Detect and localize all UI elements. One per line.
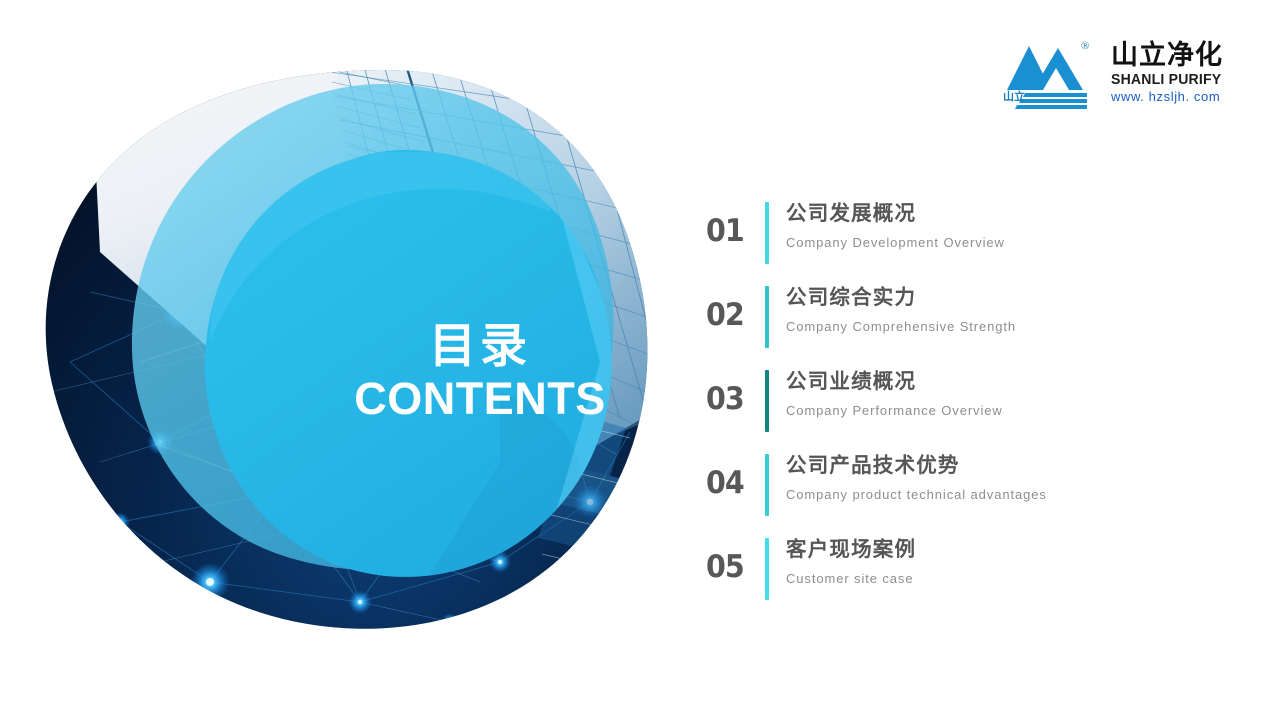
contents-item-02[interactable]: 02 公司综合实力 Company Comprehensive Strength [706, 280, 1246, 364]
contents-item-number: 03 [706, 382, 750, 416]
contents-item-text: 客户现场案例 Customer site case [786, 532, 916, 589]
logo-wordmark: 山立净化 SHANLI PURIFY www. hzsljh. com [1111, 40, 1236, 105]
contents-item-title-en: Customer site case [786, 569, 916, 589]
contents-item-text: 公司业绩概况 Company Performance Overview [786, 364, 1003, 421]
contents-item-title-cn: 公司发展概况 [786, 196, 1005, 230]
contents-item-title-cn: 公司业绩概况 [786, 364, 1003, 398]
contents-item-number: 01 [706, 214, 750, 248]
contents-item-03[interactable]: 03 公司业绩概况 Company Performance Overview [706, 364, 1246, 448]
logo-website-url[interactable]: www. hzsljh. com [1111, 89, 1236, 105]
contents-item-title-en: Company Development Overview [786, 233, 1005, 253]
contents-item-04[interactable]: 04 公司产品技术优势 Company product technical ad… [706, 448, 1246, 532]
slide-root: 目录 CONTENTS 01 公司发展概况 Company Developmen… [0, 0, 1280, 720]
contents-item-01[interactable]: 01 公司发展概况 Company Development Overview [706, 196, 1246, 280]
contents-item-divider [765, 538, 769, 600]
contents-item-number: 02 [706, 298, 750, 332]
contents-item-text: 公司综合实力 Company Comprehensive Strength [786, 280, 1016, 337]
contents-item-divider [765, 454, 769, 516]
contents-item-title-cn: 客户现场案例 [786, 532, 916, 566]
contents-item-divider [765, 202, 769, 264]
contents-list: 01 公司发展概况 Company Development Overview 0… [706, 196, 1246, 616]
contents-item-number: 04 [706, 466, 750, 500]
contents-item-title-cn: 公司综合实力 [786, 280, 1016, 314]
contents-hero-graphic: 目录 CONTENTS [30, 62, 660, 642]
contents-item-number: 05 [706, 550, 750, 584]
contents-item-05[interactable]: 05 客户现场案例 Customer site case [706, 532, 1246, 616]
contents-item-title-en: Company Comprehensive Strength [786, 317, 1016, 337]
contents-item-title-en: Company Performance Overview [786, 401, 1003, 421]
company-logo: ® 山立 山立净化 SHANLI PURIFY www. hzsljh. com [1003, 38, 1233, 118]
contents-item-text: 公司发展概况 Company Development Overview [786, 196, 1005, 253]
contents-item-text: 公司产品技术优势 Company product technical advan… [786, 448, 1047, 505]
registered-trademark-icon: ® [1081, 40, 1089, 52]
contents-item-title-en: Company product technical advantages [786, 485, 1047, 505]
contents-item-divider [765, 370, 769, 432]
logo-name-en: SHANLI PURIFY [1111, 72, 1232, 88]
contents-item-divider [765, 286, 769, 348]
contents-item-title-cn: 公司产品技术优势 [786, 448, 1047, 482]
logo-mark-subtext: 山立 [1003, 88, 1025, 104]
logo-name-cn: 山立净化 [1111, 40, 1236, 72]
